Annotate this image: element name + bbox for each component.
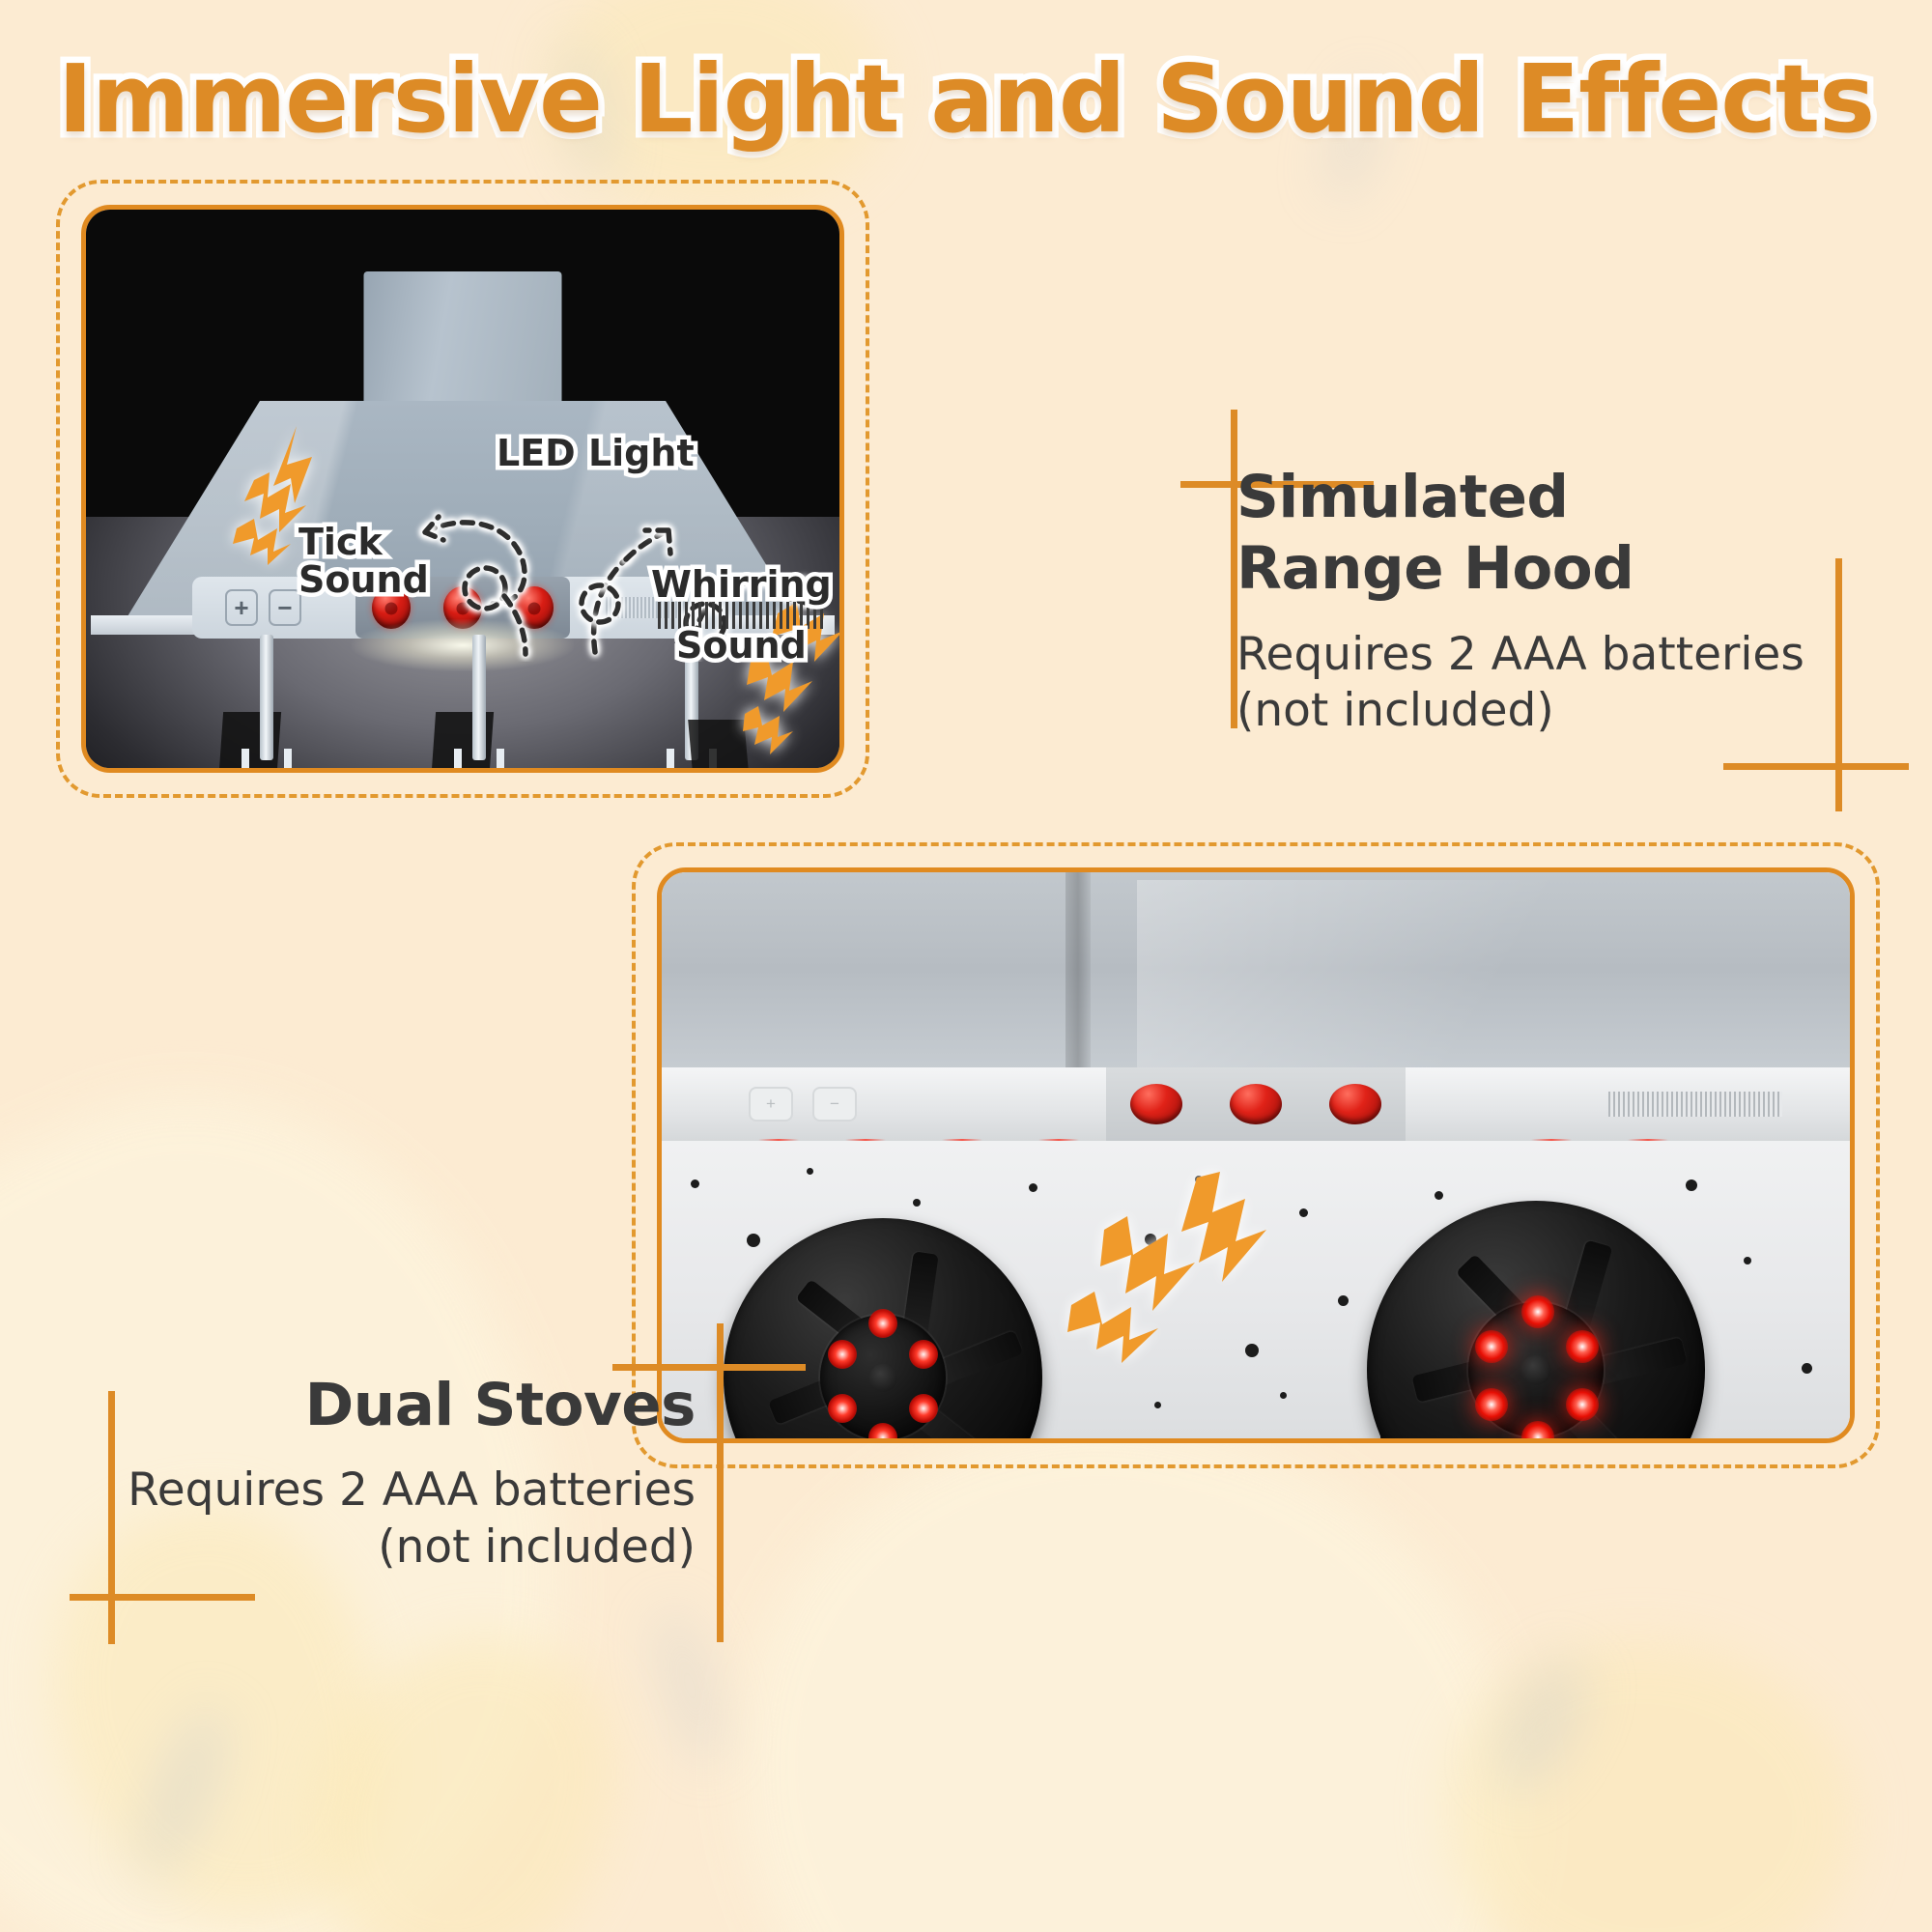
dual-stove-scene: + − [662, 872, 1850, 1438]
stove-back-panel [662, 872, 1850, 1083]
hood-minus-button[interactable]: − [269, 589, 301, 626]
callout-hood-heading: Simulated Range Hood [1236, 462, 1874, 606]
stove-vent-grill [1608, 1092, 1782, 1117]
page-title: Immersive Light and Sound Effects [0, 44, 1932, 154]
burner-led-left-1 [868, 1309, 897, 1338]
callout-stove-heading: Dual Stoves [58, 1370, 696, 1441]
burner-led-right-5 [1566, 1388, 1599, 1421]
photo-frame-dual-stoves: + − [632, 842, 1880, 1468]
burner-led-right-4 [1475, 1388, 1508, 1421]
bracket-hood-bottom-horizontal [1723, 763, 1909, 770]
callout-dual-stoves: Dual Stoves Requires 2 AAA batteries (no… [58, 1370, 696, 1576]
burner-led-left-2 [828, 1340, 857, 1369]
stove-plus-button[interactable]: + [749, 1087, 793, 1122]
stove-knob-3[interactable] [1329, 1084, 1381, 1124]
hood-hook-2 [472, 635, 486, 773]
stove-countertop [662, 1141, 1850, 1438]
bracket-stove-top-vertical [717, 1323, 724, 1642]
annotation-whirring-line1: Whirring [651, 566, 832, 604]
photo-dual-stoves: + − [657, 867, 1855, 1443]
stove-knob-panel [1106, 1067, 1406, 1141]
callout-stove-subtext: Requires 2 AAA batteries (not included) [58, 1463, 696, 1576]
annotation-whirring-line2: Sound [651, 627, 832, 665]
photo-range-hood: + − [81, 205, 844, 773]
hood-hook-1 [260, 635, 273, 773]
annotation-tick-line1: Tick [298, 524, 429, 561]
stove-knob-2[interactable] [1230, 1084, 1282, 1124]
stove-burner-right [1367, 1201, 1705, 1438]
photo-frame-range-hood: + − [56, 180, 869, 798]
hood-plus-minus-group: + − [225, 589, 301, 626]
range-hood-scene: + − [86, 210, 839, 768]
annotation-tick-sound: Tick Sound [298, 524, 429, 599]
stove-minus-button[interactable]: − [812, 1087, 857, 1122]
burner-led-right-2 [1475, 1330, 1508, 1363]
annotation-led-light: LED Light [497, 435, 695, 472]
annotation-whirring-sound: Whirring Sound [651, 566, 832, 665]
stove-knob-1[interactable] [1130, 1084, 1182, 1124]
led-light-flare [352, 619, 574, 671]
burner-led-left-5 [909, 1394, 938, 1423]
burner-led-left-3 [909, 1340, 938, 1369]
stove-lightning-bolt-icon [1067, 1170, 1270, 1363]
stove-control-bar: + − [662, 1067, 1850, 1141]
hood-chimney [364, 271, 562, 407]
callout-hood-subtext: Requires 2 AAA batteries (not included) [1236, 627, 1874, 740]
stove-burner-left [724, 1218, 1042, 1438]
burner-led-right-1 [1521, 1295, 1554, 1328]
burner-led-left-4 [828, 1394, 857, 1423]
callout-simulated-range-hood: Simulated Range Hood Requires 2 AAA batt… [1236, 462, 1874, 739]
annotation-tick-line2: Sound [298, 561, 429, 599]
bracket-stove-bottom-horizontal [70, 1594, 255, 1601]
burner-led-right-3 [1566, 1330, 1599, 1363]
hood-plus-button[interactable]: + [225, 589, 258, 626]
